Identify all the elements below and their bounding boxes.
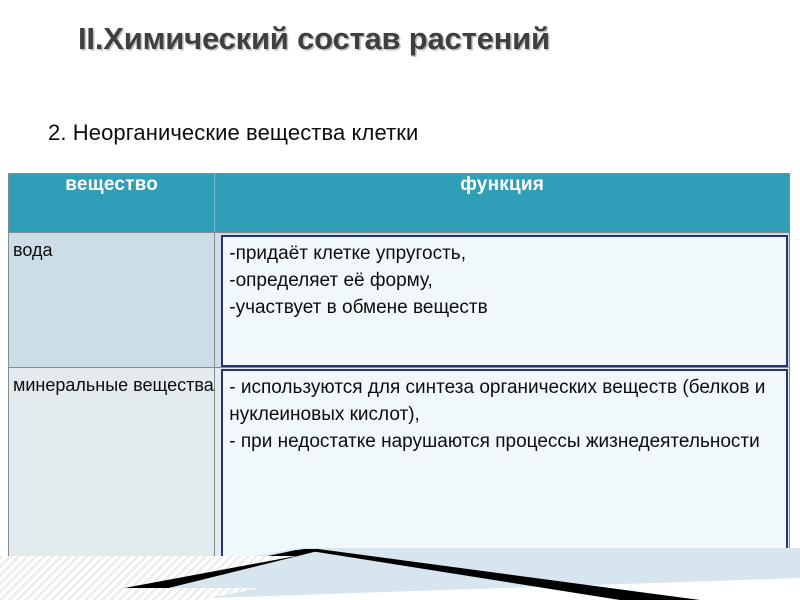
table-header-row: вещество функция (9, 174, 790, 233)
table-row: вода -придаёт клетке упругость, -определ… (9, 233, 790, 368)
cell-substance-water: вода (9, 233, 215, 368)
deco-stripe-area (0, 556, 296, 600)
column-header-substance: вещество (9, 174, 215, 233)
title-block: II.Химический состав растений (78, 18, 718, 59)
cell-substance-mineral: минеральные вещества (9, 368, 215, 559)
cell-function-mineral: - используются для синтеза органических … (215, 368, 790, 559)
column-header-function: функция (215, 174, 790, 233)
cell-function-water: -придаёт клетке упругость, -определяет е… (215, 233, 790, 368)
table-body: вода -придаёт клетке упругость, -определ… (9, 233, 790, 559)
function-textbox-water: -придаёт клетке упругость, -определяет е… (221, 235, 788, 367)
deco-stripe-area-2 (0, 588, 260, 600)
table-header: вещество функция (9, 174, 790, 233)
inorganic-substances-table: вещество функция вода -придаёт клетке уп… (8, 173, 790, 559)
function-textbox-mineral: - используются для синтеза органических … (221, 369, 788, 560)
table-row: минеральные вещества - используются для … (9, 368, 790, 559)
page-title: II.Химический состав растений (78, 18, 718, 59)
slide-subtitle: 2. Неорганические вещества клетки (48, 120, 418, 146)
